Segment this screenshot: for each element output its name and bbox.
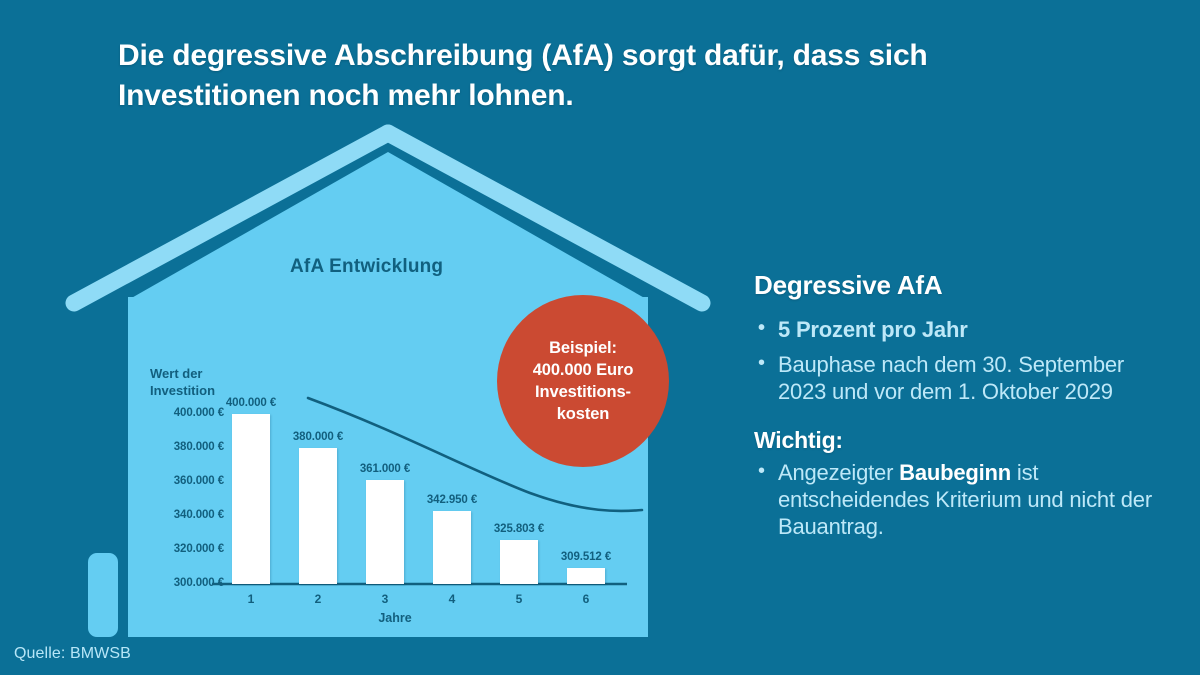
panel-bullet-list: 5 Prozent pro JahrBauphase nach dem 30. … — [754, 317, 1154, 405]
slide-canvas: Die degressive Abschreibung (AfA) sorgt … — [0, 0, 1200, 675]
x-tick-label: 2 — [303, 592, 333, 606]
y-tick-label: 360.000 € — [146, 475, 224, 487]
bar — [567, 568, 605, 584]
bar — [433, 511, 471, 584]
example-callout-circle: Beispiel: 400.000 Euro Investitions- kos… — [497, 295, 669, 467]
bar-value-label: 309.512 € — [531, 551, 641, 563]
x-axis-label: Jahre — [355, 611, 435, 625]
x-tick-label: 6 — [571, 592, 601, 606]
bar-value-label: 325.803 € — [464, 523, 574, 535]
y-tick-label: 340.000 € — [146, 509, 224, 521]
panel-bullet-item: Bauphase nach dem 30. September 2023 und… — [754, 352, 1154, 406]
example-callout-text: Beispiel: 400.000 Euro Investitions- kos… — [533, 337, 634, 425]
important-bullet-list: Angezeigter Baubeginn ist entscheidendes… — [754, 460, 1154, 540]
x-tick-label: 1 — [236, 592, 266, 606]
important-heading: Wichtig: — [754, 427, 1154, 454]
x-tick-label: 3 — [370, 592, 400, 606]
emphasis-text: Baubeginn — [899, 460, 1011, 485]
x-tick-label: 4 — [437, 592, 467, 606]
important-bullet-item: Angezeigter Baubeginn ist entscheidendes… — [754, 460, 1154, 540]
bar-value-label: 380.000 € — [263, 431, 373, 443]
x-tick-label: 5 — [504, 592, 534, 606]
y-tick-label: 320.000 € — [146, 543, 224, 555]
panel-heading: Degressive AfA — [754, 270, 1154, 301]
y-tick-label: 300.000 € — [146, 577, 224, 589]
y-tick-label: 380.000 € — [146, 441, 224, 453]
source-attribution: Quelle: BMWSB — [14, 645, 131, 663]
bar-value-label: 361.000 € — [330, 463, 440, 475]
panel-bullet-item: 5 Prozent pro Jahr — [754, 317, 1154, 344]
bar-value-label: 342.950 € — [397, 494, 507, 506]
bar-value-label: 400.000 € — [196, 397, 306, 409]
info-panel: Degressive AfA 5 Prozent pro JahrBauphas… — [754, 270, 1154, 549]
